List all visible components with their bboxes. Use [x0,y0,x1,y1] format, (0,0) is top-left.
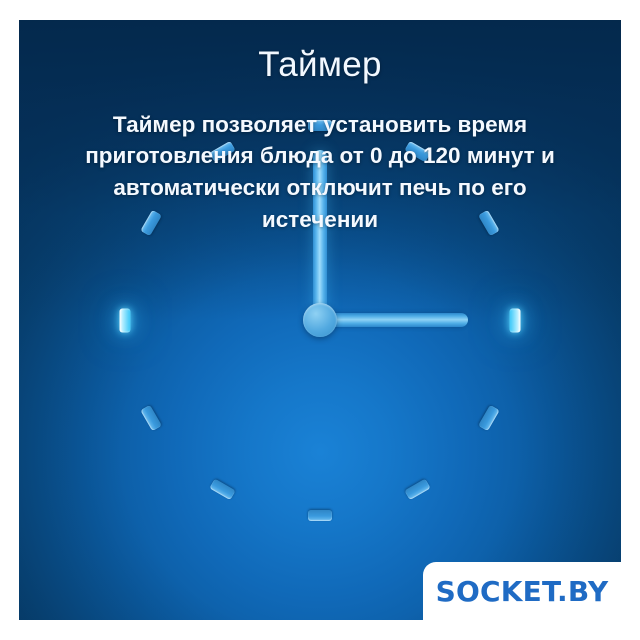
clock-hour-hand [320,313,468,327]
clock-tick-6 [308,510,332,521]
clock-tick-5 [404,478,430,500]
promo-text-block: Таймер Таймер позволяет установить время… [19,46,621,236]
clock-tick-9 [120,308,131,332]
clock-tick-4 [478,404,500,430]
clock-tick-7 [209,478,235,500]
promo-image: Таймер Таймер позволяет установить время… [0,0,640,640]
clock-center-hub [303,303,337,337]
site-logo-text: SOCKET.BY [436,575,609,608]
clock-tick-3 [510,308,521,332]
page-title: Таймер [53,46,587,85]
promo-panel: Таймер Таймер позволяет установить время… [19,20,621,620]
clock-tick-8 [140,404,162,430]
site-logo-badge[interactable]: SOCKET.BY [423,562,621,620]
promo-description: Таймер позволяет установить время пригот… [53,109,587,237]
